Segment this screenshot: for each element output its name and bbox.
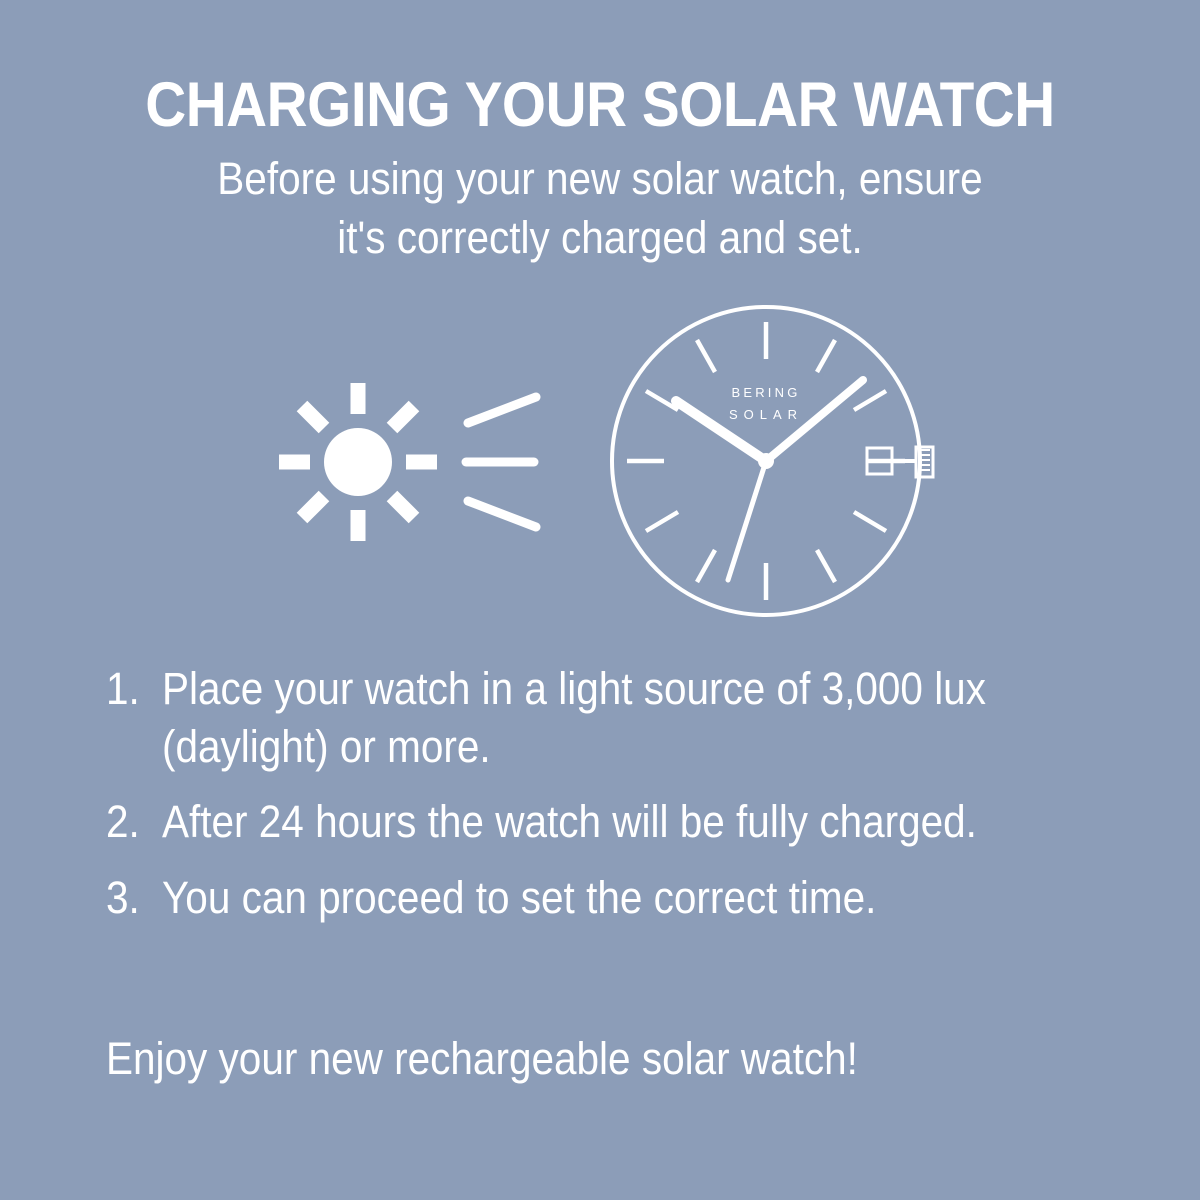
infographic-page: CHARGING YOUR SOLAR WATCH Before using y… (0, 0, 1200, 1200)
step-number: 3. (106, 869, 156, 927)
subtitle-line-1: Before using your new solar watch, ensur… (60, 149, 1140, 208)
list-item: 3. You can proceed to set the correct ti… (106, 869, 1116, 927)
step-number: 1. (106, 660, 156, 718)
light-beams-icon (466, 397, 536, 527)
step-text: You can proceed to set the correct time. (162, 869, 1021, 927)
list-item: 1. Place your watch in a light source of… (106, 660, 1116, 775)
second-hand (728, 461, 766, 580)
illustration: BERING SOLAR (0, 280, 1200, 640)
steps-list: 1. Place your watch in a light source of… (106, 660, 1116, 944)
step-text: Place your watch in a light source of 3,… (162, 660, 1021, 775)
list-item: 2. After 24 hours the watch will be full… (106, 793, 1116, 851)
watch-brand-line-2: SOLAR (729, 407, 803, 422)
subtitle-line-2: it's correctly charged and set. (60, 208, 1140, 267)
sun-core (324, 428, 392, 496)
light-beam-top (468, 397, 536, 423)
sun-icon (279, 383, 437, 541)
step-text: After 24 hours the watch will be fully c… (162, 793, 1021, 851)
light-beam-bottom (468, 501, 536, 527)
step-number: 2. (106, 793, 156, 851)
watch-brand-line-1: BERING (731, 385, 800, 400)
watch-face-icon: BERING SOLAR (612, 307, 933, 615)
page-subtitle: Before using your new solar watch, ensur… (60, 149, 1140, 268)
closing-text: Enjoy your new rechargeable solar watch! (106, 1030, 1060, 1088)
page-title: CHARGING YOUR SOLAR WATCH (60, 74, 1140, 137)
watch-hands-pivot (758, 453, 774, 469)
header: CHARGING YOUR SOLAR WATCH Before using y… (0, 74, 1200, 268)
